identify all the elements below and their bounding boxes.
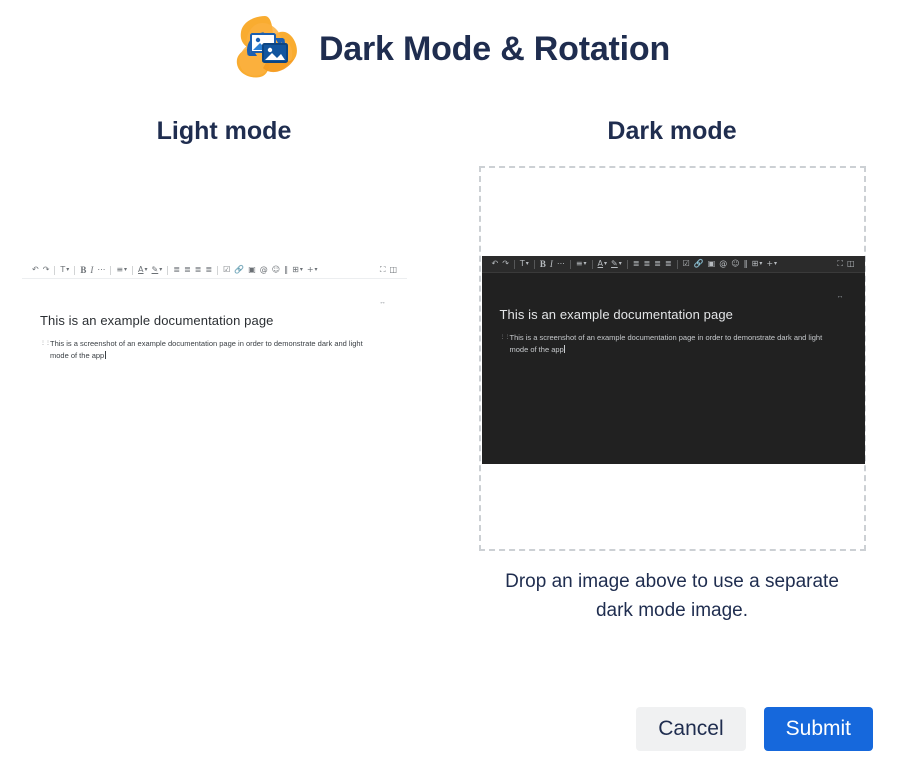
drag-handle-icon[interactable]: ⋮⋮ — [40, 339, 50, 349]
toolbar-separator — [167, 266, 168, 275]
toolbar-separator — [132, 266, 133, 275]
editor-toolbar-light: ↶ ↷ T▾ B I ⋯ ≡▾ A▾ ✎▾ ≣ ≣ ≣ — [22, 262, 407, 279]
submit-button[interactable]: Submit — [764, 707, 873, 751]
resize-handle-icon[interactable]: ↔ — [837, 293, 843, 300]
toolbar-separator — [592, 260, 593, 269]
text-style-icon[interactable]: T▾ — [518, 260, 531, 268]
mention-icon[interactable]: @ — [258, 266, 270, 274]
paragraph-text: This is a screenshot of an example docum… — [50, 339, 363, 360]
toolbar-separator — [570, 260, 571, 269]
mode-columns: Light mode ↶ ↷ T▾ B I ⋯ ≡▾ A▾ ✎▾ — [0, 80, 897, 626]
toolbar-separator — [74, 266, 75, 275]
undo-icon[interactable]: ↶ — [490, 260, 501, 268]
light-mode-preview-area: ↶ ↷ T▾ B I ⋯ ≡▾ A▾ ✎▾ ≣ ≣ ≣ — [0, 182, 448, 572]
toolbar-separator — [514, 260, 515, 269]
toolbar-separator — [534, 260, 535, 269]
image-icon[interactable]: ▣ — [706, 260, 718, 268]
dark-mode-column: Dark mode ↶ ↷ T▾ B I ⋯ ≡▾ A▾ ✎▾ — [448, 80, 896, 626]
text-color-icon[interactable]: A▾ — [596, 260, 610, 268]
resize-handle-icon[interactable]: ↔ — [379, 299, 385, 306]
emoji-icon[interactable]: ☺ — [270, 266, 282, 274]
comment-icon[interactable]: ◫ — [387, 266, 399, 274]
document-paragraph-light: ⋮⋮ This is a screenshot of an example do… — [40, 338, 370, 363]
bold-icon[interactable]: B — [538, 260, 548, 269]
editor-toolbar-dark: ↶ ↷ T▾ B I ⋯ ≡▾ A▾ ✎▾ ≣ ≣ ≣ — [482, 256, 865, 273]
text-align-icon[interactable]: ≡▾ — [574, 260, 589, 268]
redo-icon[interactable]: ↷ — [500, 260, 511, 268]
outdent-icon[interactable]: ≣ — [193, 266, 204, 274]
toolbar-separator — [627, 260, 628, 269]
table-icon[interactable]: ⊞▾ — [750, 260, 765, 268]
cancel-button[interactable]: Cancel — [636, 707, 745, 751]
dropzone-hint-text: Drop an image above to use a separate da… — [448, 567, 896, 626]
more-formatting-icon[interactable]: ⋯ — [555, 260, 567, 268]
document-title-dark: This is an example documentation page — [500, 273, 847, 322]
outdent-icon[interactable]: ≣ — [652, 260, 663, 268]
image-icon[interactable]: ▣ — [246, 266, 258, 274]
page-title: Dark Mode & Rotation — [319, 32, 670, 66]
fullscreen-icon[interactable]: ⛶ — [835, 260, 845, 268]
text-color-icon[interactable]: A▾ — [136, 266, 150, 274]
page-header: Dark Mode & Rotation — [0, 0, 897, 80]
editor-body-light[interactable]: ↔ This is an example documentation page … — [22, 279, 407, 363]
undo-icon[interactable]: ↶ — [30, 266, 41, 274]
toolbar-separator — [54, 266, 55, 275]
bullet-list-icon[interactable]: ≣ — [631, 260, 642, 268]
redo-icon[interactable]: ↷ — [41, 266, 52, 274]
highlight-color-icon[interactable]: ✎▾ — [150, 266, 165, 274]
columns-icon[interactable]: ‖ — [742, 260, 750, 268]
columns-icon[interactable]: ‖ — [282, 266, 290, 274]
dark-mode-heading: Dark mode — [448, 116, 896, 146]
more-formatting-icon[interactable]: ⋯ — [95, 266, 107, 274]
toolbar-separator — [677, 260, 678, 269]
light-mode-heading: Light mode — [0, 116, 448, 146]
numbered-list-icon[interactable]: ≣ — [641, 260, 652, 268]
bullet-list-icon[interactable]: ≣ — [171, 266, 182, 274]
mention-icon[interactable]: @ — [717, 260, 729, 268]
indent-icon[interactable]: ≣ — [203, 266, 214, 274]
italic-icon[interactable]: I — [548, 260, 555, 269]
bold-icon[interactable]: B — [78, 266, 88, 275]
text-align-icon[interactable]: ≡▾ — [114, 266, 129, 274]
paragraph-text: This is a screenshot of an example docum… — [510, 333, 823, 354]
text-cursor — [564, 345, 565, 353]
dialog-footer: Cancel Submit — [636, 707, 873, 751]
italic-icon[interactable]: I — [88, 266, 95, 275]
toolbar-separator — [110, 266, 111, 275]
image-rotation-icon — [227, 10, 305, 88]
dark-mode-dropzone[interactable]: ↶ ↷ T▾ B I ⋯ ≡▾ A▾ ✎▾ ≣ ≣ ≣ — [479, 166, 866, 551]
text-cursor — [105, 351, 106, 359]
light-mode-column: Light mode ↶ ↷ T▾ B I ⋯ ≡▾ A▾ ✎▾ — [0, 80, 448, 626]
highlight-color-icon[interactable]: ✎▾ — [609, 260, 624, 268]
fullscreen-icon[interactable]: ⛶ — [378, 266, 388, 274]
comment-icon[interactable]: ◫ — [845, 260, 857, 268]
link-icon[interactable]: 🔗 — [232, 266, 246, 274]
insert-more-icon[interactable]: +▾ — [305, 266, 320, 274]
editor-body-dark[interactable]: ↔ This is an example documentation page … — [482, 273, 865, 357]
light-mode-screenshot[interactable]: ↶ ↷ T▾ B I ⋯ ≡▾ A▾ ✎▾ ≣ ≣ ≣ — [22, 262, 407, 380]
dark-mode-screenshot[interactable]: ↶ ↷ T▾ B I ⋯ ≡▾ A▾ ✎▾ ≣ ≣ ≣ — [482, 256, 865, 464]
insert-more-icon[interactable]: +▾ — [764, 260, 779, 268]
numbered-list-icon[interactable]: ≣ — [182, 266, 193, 274]
text-style-icon[interactable]: T▾ — [58, 266, 71, 274]
document-paragraph-dark: ⋮⋮ This is a screenshot of an example do… — [500, 332, 830, 357]
indent-icon[interactable]: ≣ — [663, 260, 674, 268]
toolbar-separator — [217, 266, 218, 275]
task-list-icon[interactable]: ☑ — [221, 266, 232, 274]
emoji-icon[interactable]: ☺ — [729, 260, 741, 268]
drag-handle-icon[interactable]: ⋮⋮ — [500, 333, 510, 343]
task-list-icon[interactable]: ☑ — [681, 260, 692, 268]
table-icon[interactable]: ⊞▾ — [290, 266, 305, 274]
document-title-light: This is an example documentation page — [40, 279, 389, 328]
link-icon[interactable]: 🔗 — [692, 260, 706, 268]
